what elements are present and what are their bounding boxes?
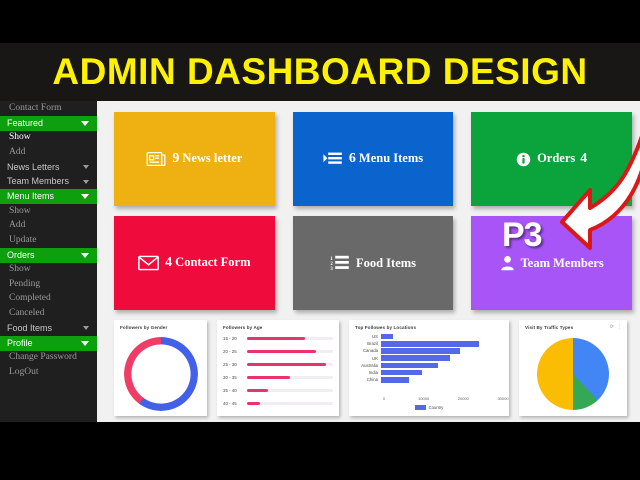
location-bar-row: Canada <box>355 347 503 354</box>
sidebar-nav: Contact FormFeaturedShowAddNews LettersT… <box>0 101 97 422</box>
sidebar-item-food-items[interactable]: Food Items <box>0 321 97 336</box>
age-bar-chart: 15 - 2020 - 2525 - 3030 - 3535 - 4040 - … <box>223 332 333 410</box>
location-bar-chart: USBrazilCanadaUKAustraliaIndiaChina <box>355 333 503 395</box>
age-bar-fill <box>247 402 260 405</box>
newspaper-icon <box>146 151 166 167</box>
age-bar-label: 35 - 40 <box>223 388 247 393</box>
stat-card-menu-items[interactable]: 6Menu Items <box>293 112 454 206</box>
sidebar-item-label: Menu Items <box>7 192 54 201</box>
location-bar-fill <box>381 355 450 361</box>
sidebar-item-label: Update <box>9 236 36 246</box>
sidebar-item-label: Profile <box>7 339 33 348</box>
refresh-icon[interactable]: ⟳ <box>610 324 614 330</box>
sidebar-item-featured[interactable]: Featured <box>0 116 97 131</box>
stat-card-row-1: 9News letter 6Menu Items Orders4 <box>114 112 632 206</box>
location-x-axis: 0100002000030000 <box>384 396 503 403</box>
svg-text:2: 2 <box>330 262 333 267</box>
location-bar-label: India <box>355 370 381 375</box>
location-bar-fill <box>381 348 460 354</box>
age-bar-fill <box>247 389 268 392</box>
age-bar-row: 20 - 25 <box>223 345 333 358</box>
location-bar-track <box>381 341 503 347</box>
age-bar-label: 30 - 35 <box>223 375 247 380</box>
banner-title: ADMIN DASHBOARD DESIGN <box>52 51 587 93</box>
age-bar-row: 15 - 20 <box>223 332 333 345</box>
pie-chart-traffic <box>525 332 621 416</box>
stat-card-text: 6Menu Items <box>349 151 423 167</box>
stat-card-news-letter[interactable]: 9News letter <box>114 112 275 206</box>
stat-card-row-2: 4Contact Form 123Food Items Team Members <box>114 216 632 310</box>
location-bar-row: US <box>355 333 503 340</box>
sidebar-item-team-members[interactable]: Team Members <box>0 174 97 189</box>
widget-title-traffic: Visit By Traffic Types <box>525 325 621 330</box>
sidebar-item-label: Team Members <box>7 177 69 186</box>
list-menu-icon <box>323 151 343 167</box>
location-bar-fill <box>381 377 409 383</box>
stat-card-count: 6 <box>349 151 356 166</box>
sidebar-item-label: Show <box>9 207 31 217</box>
legend-label-country: Country <box>429 405 444 410</box>
location-bar-fill <box>381 341 479 347</box>
sidebar-item-show[interactable]: Show <box>0 131 97 146</box>
stat-card-count: 4 <box>580 151 587 166</box>
location-axis-tick: 0 <box>383 396 385 401</box>
age-bar-fill <box>247 337 305 340</box>
sidebar-item-label: Show <box>9 133 31 143</box>
widget-visit-by-traffic-types[interactable]: Visit By Traffic Types ⟳ ⋮ <box>519 320 627 416</box>
stat-card-count: 9 <box>172 151 179 166</box>
stat-card-team-members[interactable]: Team Members <box>471 216 632 310</box>
location-bar-track <box>381 377 503 383</box>
sidebar-item-contact-form[interactable]: Contact Form <box>0 101 97 116</box>
donut-center-value: 60% <box>154 376 167 383</box>
location-legend: Country <box>355 405 503 410</box>
age-bar-fill <box>247 376 290 379</box>
age-bar-track <box>247 389 333 392</box>
location-axis-tick: 10000 <box>418 396 429 401</box>
widget-followers-by-age[interactable]: Followers by Age 15 - 2020 - 2525 - 3030… <box>217 320 339 416</box>
widget-title-gender: Followers by Gender <box>120 325 201 330</box>
sidebar-item-label: Completed <box>9 294 51 304</box>
widget-top-followers-by-locations[interactable]: Top Followes by Locations USBrazilCanada… <box>349 320 509 416</box>
widget-title-age: Followers by Age <box>223 325 333 330</box>
sidebar-item-label: Change Password <box>9 353 77 363</box>
age-bar-label: 20 - 25 <box>223 349 247 354</box>
svg-text:3: 3 <box>330 267 333 271</box>
info-circle-icon <box>516 152 531 167</box>
sidebar-item-label: Pending <box>9 280 40 290</box>
stat-card-label: Team Members <box>521 256 604 270</box>
sidebar-item-canceled[interactable]: Canceled <box>0 307 97 322</box>
chevron-down-icon <box>83 326 89 330</box>
stat-card-food-items[interactable]: 123Food Items <box>293 216 454 310</box>
envelope-icon <box>138 255 159 271</box>
age-bar-row: 40 - 45 <box>223 397 333 410</box>
more-options-icon[interactable]: ⋮ <box>617 324 622 330</box>
sidebar-item-label: Add <box>9 221 25 231</box>
age-bar-track <box>247 350 333 353</box>
location-bar-label: Australia <box>355 363 381 368</box>
svg-text:1: 1 <box>330 257 333 262</box>
sidebar-item-change-password[interactable]: Change Password <box>0 351 97 366</box>
chevron-down-icon <box>81 194 89 199</box>
location-bar-label: Brazil <box>355 341 381 346</box>
chevron-down-icon <box>81 121 89 126</box>
stat-card-text: Team Members <box>521 256 604 271</box>
stat-card-contact-form[interactable]: 4Contact Form <box>114 216 275 310</box>
stat-card-orders[interactable]: Orders4 <box>471 112 632 206</box>
donut-center-label: Female <box>146 365 175 375</box>
location-bar-track <box>381 363 503 369</box>
location-bar-label: China <box>355 377 381 382</box>
location-axis-tick: 30000 <box>497 396 508 401</box>
location-bar-label: UK <box>355 356 381 361</box>
age-bar-track <box>247 376 333 379</box>
age-bar-track <box>247 402 333 405</box>
stat-card-count: 4 <box>165 255 172 270</box>
sidebar-item-label: News Letters <box>7 163 60 172</box>
age-bar-fill <box>247 350 316 353</box>
location-bar-track <box>381 355 503 361</box>
sidebar-item-pending[interactable]: Pending <box>0 277 97 292</box>
stat-card-label: Orders <box>537 151 575 165</box>
sidebar-item-profile[interactable]: Profile <box>0 336 97 351</box>
sidebar-item-add[interactable]: Add <box>0 145 97 160</box>
widget-actions-traffic: ⟳ ⋮ <box>610 324 622 330</box>
location-bar-fill <box>381 370 422 376</box>
sidebar-item-label: Show <box>9 265 31 275</box>
sidebar-item-label: Orders <box>7 251 35 260</box>
sidebar-item-label: Food Items <box>7 324 52 333</box>
stat-card-label: Menu Items <box>359 151 423 165</box>
sidebar-item-label: Add <box>9 148 25 158</box>
widget-followers-by-gender[interactable]: Followers by Gender Female 60% <box>114 320 207 416</box>
location-bar-fill <box>381 363 438 369</box>
sidebar-item-label: LogOut <box>9 368 39 378</box>
location-bar-row: Brazil <box>355 340 503 347</box>
chart-widget-row: Followers by Gender Female 60% Followers… <box>114 320 632 416</box>
sidebar-item-label: Canceled <box>9 309 44 319</box>
admin-dashboard-window: Contact FormFeaturedShowAddNews LettersT… <box>0 101 640 422</box>
sidebar-item-orders[interactable]: Orders <box>0 248 97 263</box>
location-bar-label: US <box>355 334 381 339</box>
age-bar-label: 25 - 30 <box>223 362 247 367</box>
stat-card-label: News letter <box>182 151 242 165</box>
person-icon <box>500 255 515 271</box>
age-bar-track <box>247 363 333 366</box>
age-bar-label: 15 - 20 <box>223 336 247 341</box>
age-bar-fill <box>247 363 326 366</box>
location-bar-track <box>381 348 503 354</box>
location-bar-track <box>381 370 503 376</box>
donut-chart-gender: Female 60% <box>120 332 201 416</box>
chevron-down-icon <box>81 253 89 258</box>
sidebar-item-news-letters[interactable]: News Letters <box>0 160 97 175</box>
stat-card-text: 9News letter <box>172 151 242 167</box>
sidebar-item-label: Featured <box>7 119 43 128</box>
location-bar-row: China <box>355 376 503 383</box>
location-bar-label: Canada <box>355 348 381 353</box>
location-bar-row: UK <box>355 355 503 362</box>
location-bar-row: India <box>355 369 503 376</box>
stat-card-label: Food Items <box>356 256 416 270</box>
sidebar-item-show[interactable]: Show <box>0 204 97 219</box>
sidebar-item-menu-items[interactable]: Menu Items <box>0 189 97 204</box>
sidebar-item-show[interactable]: Show <box>0 263 97 278</box>
age-bar-row: 30 - 35 <box>223 371 333 384</box>
age-bar-row: 25 - 30 <box>223 358 333 371</box>
legend-swatch-country <box>415 405 426 410</box>
dashboard-content: 9News letter 6Menu Items Orders4 4Contac… <box>97 101 640 422</box>
age-bar-track <box>247 337 333 340</box>
location-bar-row: Australia <box>355 362 503 369</box>
title-banner: ADMIN DASHBOARD DESIGN <box>0 43 640 101</box>
location-axis-tick: 20000 <box>458 396 469 401</box>
stat-card-text: Orders4 <box>537 151 587 167</box>
age-bar-label: 40 - 45 <box>223 401 247 406</box>
stat-card-label: Contact Form <box>175 255 250 269</box>
video-frame: ADMIN DASHBOARD DESIGN Contact FormFeatu… <box>0 0 640 480</box>
sidebar-item-label: Contact Form <box>9 104 62 114</box>
sidebar-item-logout[interactable]: LogOut <box>0 365 97 380</box>
sidebar-item-update[interactable]: Update <box>0 233 97 248</box>
sidebar-item-completed[interactable]: Completed <box>0 292 97 307</box>
age-bar-row: 35 - 40 <box>223 384 333 397</box>
widget-title-locations: Top Followes by Locations <box>355 325 503 330</box>
sidebar-item-add[interactable]: Add <box>0 219 97 234</box>
chevron-down-icon <box>83 165 89 169</box>
stat-card-text: 4Contact Form <box>165 255 250 271</box>
location-bar-track <box>381 334 503 340</box>
chevron-down-icon <box>83 180 89 184</box>
numbered-list-icon: 123 <box>330 255 350 271</box>
location-bar-fill <box>381 334 393 340</box>
stat-card-text: Food Items <box>356 256 416 271</box>
chevron-down-icon <box>81 341 89 346</box>
